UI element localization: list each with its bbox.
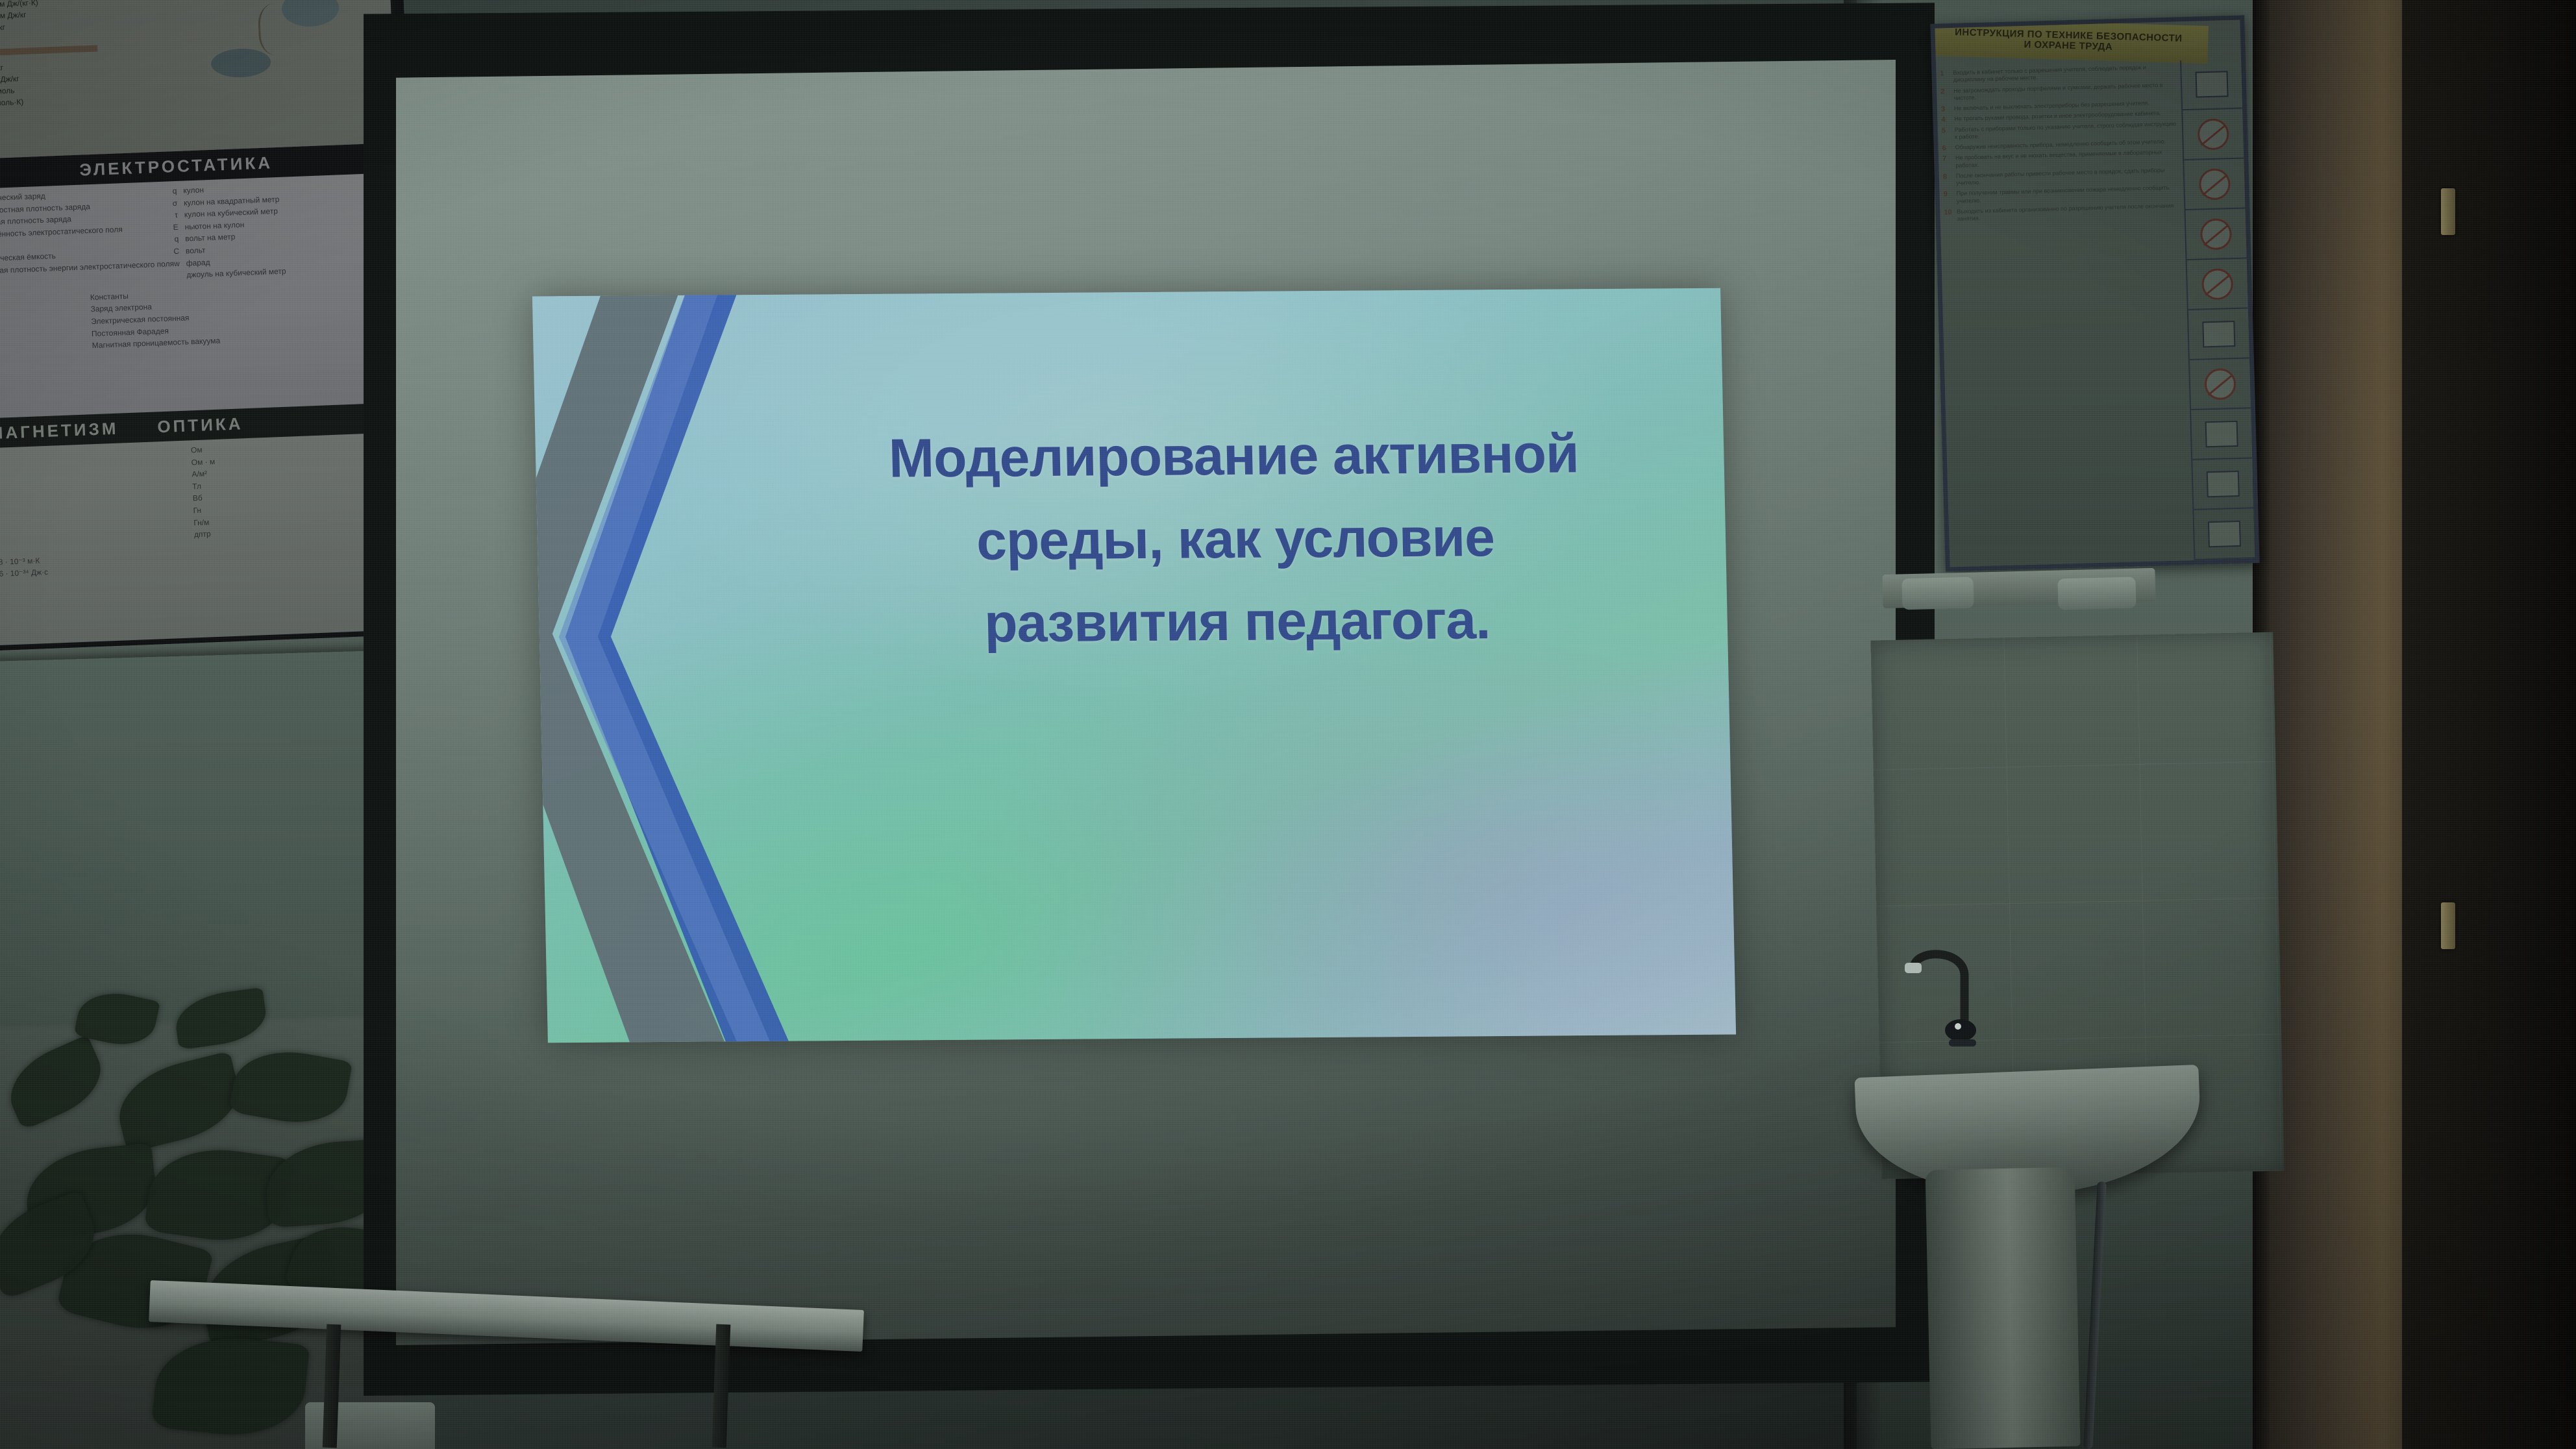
- safety-rule-text: При получении травмы или при возникновен…: [1956, 184, 2169, 204]
- safety-icon-cell: [2184, 159, 2245, 211]
- no-running-icon: [2204, 368, 2236, 400]
- safety-rule-text: Не пробовать на вкус и не нюхать веществ…: [1955, 149, 2162, 168]
- no-entry-icon: [2199, 168, 2231, 200]
- safety-icon-cell: [2183, 109, 2244, 161]
- slide-title-line-2: среды, как условие: [816, 495, 1655, 584]
- unit-row: 1 - 10⁻³ кг: [0, 63, 3, 73]
- constant-row: 6.626 · 10⁻³⁴ Дж·с: [0, 566, 48, 580]
- safety-rules-list: 1Входить в кабинет только с разрешения у…: [1936, 60, 2194, 567]
- quantity-symbol: τ: [175, 209, 178, 221]
- no-open-flame-icon: [2200, 218, 2232, 250]
- optics-heading: ОПТИКА: [157, 414, 243, 437]
- sink-pedestal: [1926, 1167, 2081, 1449]
- quantity-symbol: σ: [172, 197, 177, 210]
- safety-rule-text: Работать с приборами только по указанию …: [1955, 120, 2176, 140]
- mo-left-column: [0, 445, 188, 549]
- unit-row: дптр: [194, 528, 211, 541]
- unit-name: вольт: [186, 244, 206, 257]
- eye-protection-icon: [2205, 420, 2238, 447]
- safety-rule-number: 8: [1943, 173, 1948, 182]
- safety-rule-text: Не трогать руками провода, розетки и ино…: [1954, 110, 2161, 122]
- electrostatics-table: электрический зарядq поверхностная плотн…: [0, 177, 392, 356]
- door-hinge-icon: [2441, 902, 2455, 949]
- quantity-symbol: C: [173, 245, 179, 258]
- magnetism-optics-table: Ом Ом · м А/м² Тл Вб Гн Гн/м дптр 2.898 …: [0, 436, 401, 580]
- safety-rule-number: 4: [1941, 116, 1946, 125]
- safety-rule: 5Работать с приборами только по указанию…: [1955, 120, 2178, 141]
- safety-icon-cell: [2190, 358, 2251, 410]
- no-drinking-icon: [2201, 268, 2233, 300]
- safety-rule-number: 6: [1942, 144, 1946, 153]
- no-touching-icon: [2198, 118, 2229, 150]
- quantity-symbol: q: [172, 185, 177, 197]
- safety-rule-number: 9: [1943, 191, 1948, 200]
- exit-icon: [2208, 520, 2241, 547]
- safety-rule: 7Не пробовать на вкус и не нюхать вещест…: [1955, 149, 2179, 169]
- safety-pictogram-column: [2180, 59, 2255, 560]
- safety-rule-number: 10: [1944, 208, 1952, 217]
- safety-rule-text: Обнаружив неисправность прибора, немедле…: [1955, 138, 2166, 151]
- unit-row: килограмм Дж/(кг·К): [0, 0, 38, 10]
- electrostatics-right-column: кулон кулон на квадратный метр кулон на …: [183, 177, 390, 282]
- quantity-symbol: q: [174, 233, 179, 245]
- paper-towel-holder[interactable]: [2057, 577, 2136, 610]
- quantity-symbol: w: [174, 257, 180, 269]
- screen-surface: Моделирование активной среды, как услови…: [396, 60, 1896, 1345]
- safety-rule: 2Не загромождать проходы портфелями и су…: [1953, 81, 2177, 102]
- unit-row: Гн: [193, 504, 201, 517]
- unit-row: килограмм Дж/кг: [0, 10, 27, 22]
- door-hinge-icon: [2441, 188, 2455, 235]
- wooden-door[interactable]: [2402, 0, 2576, 1449]
- safety-icon-cell: [2188, 308, 2249, 360]
- soap-dispenser[interactable]: [1901, 577, 1974, 610]
- magnetism-optics-poster: МАГНЕТИЗМ ОПТИКА Ом Ом · м А/м² Тл Вб Гн…: [0, 402, 408, 646]
- safety-rule-text: Не включать и не выключать электроприбор…: [1954, 100, 2149, 112]
- unit-row: 2 · 10²³ моль: [0, 86, 15, 97]
- warning-sign-icon: [2196, 71, 2229, 97]
- safety-rule-text: После окончания работы привести рабочее …: [1956, 167, 2165, 186]
- safety-rule-number: 2: [1940, 88, 1945, 97]
- presentation-slide: Моделирование активной среды, как услови…: [532, 288, 1736, 1043]
- safety-rule: 1Входить в кабинет только с разрешения у…: [1953, 63, 2176, 84]
- unit-name: кулон: [183, 184, 204, 197]
- unit-row: Гн/м: [193, 516, 210, 529]
- safety-rule-number: 3: [1941, 105, 1946, 114]
- slide-title-line-1: Моделирование активной: [814, 412, 1653, 501]
- safety-rule: 8После окончания работы привести рабочее…: [1956, 166, 2179, 187]
- unit-row: 14 Дж/(моль·К): [0, 97, 24, 108]
- classroom-scene: килограмм Дж/(кг·К) килограмм Дж/кг метр…: [0, 0, 2576, 1449]
- safety-rule-text: Не загромождать проходы портфелями и сум…: [1953, 81, 2163, 101]
- safety-heading-line-2: И ОХРАНЕ ТРУДА: [2024, 40, 2112, 53]
- safety-instructions-poster: ИНСТРУКЦИЯ ПО ТЕХНИКЕ БЕЗОПАСНОСТИ И ОХР…: [1930, 15, 2259, 571]
- safety-poster-heading: ИНСТРУКЦИЯ ПО ТЕХНИКЕ БЕЗОПАСНОСТИ И ОХР…: [1930, 18, 2209, 64]
- unit-row: Тл: [192, 480, 202, 493]
- unit-row: Вб: [193, 492, 203, 504]
- safety-icon-cell: [2191, 408, 2252, 460]
- safety-poster-body: 1Входить в кабинет только с разрешения у…: [1936, 59, 2255, 567]
- safety-rule: 9При получении травмы или при возникнове…: [1956, 184, 2179, 205]
- unit-row: 4 · 10⁻²⁷ Дж/кг: [0, 74, 19, 85]
- unit-row: А/м²: [192, 468, 207, 480]
- electrical-hazard-icon: [2202, 321, 2235, 347]
- constants-heading: Константы: [90, 290, 129, 304]
- safety-icon-cell: [2194, 508, 2255, 560]
- safety-rule-number: 5: [1942, 127, 1946, 136]
- magnetism-heading: МАГНЕТИЗМ: [0, 418, 119, 443]
- safety-icon-cell: [2181, 59, 2242, 111]
- safety-rule: 10Выходить из кабинета организованно по …: [1957, 202, 2180, 223]
- safety-icon-cell: [2192, 458, 2253, 510]
- faucet-icon[interactable]: [1902, 945, 1987, 1048]
- unit-name: фарад: [186, 256, 210, 269]
- units-poster: килограмм Дж/(кг·К) килограмм Дж/кг метр…: [0, 0, 396, 159]
- slide-title-line-3: развития педагога.: [817, 578, 1657, 667]
- safety-rule-text: Выходить из кабинета организованно по ра…: [1957, 202, 2173, 222]
- decorative-squiggle: [258, 3, 301, 56]
- unit-row: Ом · м: [191, 456, 215, 469]
- unit-row: метр Дж/кг: [0, 23, 5, 33]
- safety-icon-cell: [2187, 258, 2248, 310]
- quantity-symbol: E: [173, 221, 179, 234]
- projection-screen: Моделирование активной среды, как услови…: [364, 0, 1935, 1396]
- unit-row: Ом: [191, 444, 203, 456]
- safety-rule-text: Входить в кабинет только с разрешения уч…: [1953, 64, 2146, 84]
- electrostatics-left-column: электрический зарядq поверхностная плотн…: [0, 185, 180, 290]
- safety-rule-number: 7: [1942, 155, 1947, 164]
- safety-icon-cell: [2185, 208, 2246, 260]
- slide-title: Моделирование активной среды, как услови…: [814, 412, 1657, 666]
- electrostatics-poster: ЭЛЕКТРОСТАТИКА электрический зарядq пове…: [0, 143, 399, 419]
- first-aid-icon: [2207, 470, 2240, 497]
- safety-rule-number: 1: [1940, 69, 1944, 79]
